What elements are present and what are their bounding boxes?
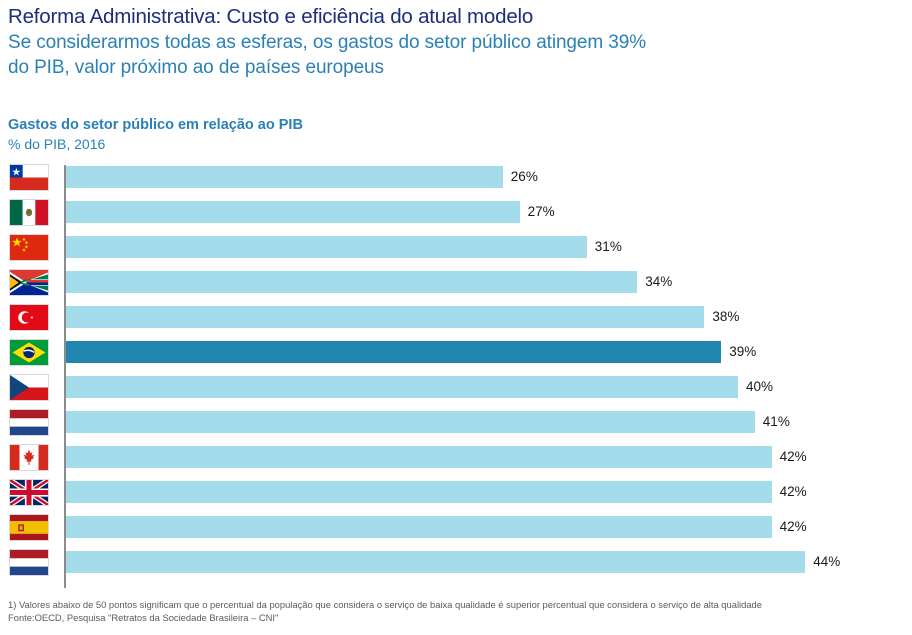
chart-row: 39% xyxy=(0,335,912,370)
netherlands-flag-icon xyxy=(9,549,49,576)
chart-bar xyxy=(66,481,772,503)
chart-bar xyxy=(66,411,755,433)
chart-bar-value-label: 27% xyxy=(528,204,555,219)
chart-bar xyxy=(66,271,637,293)
china-flag-icon xyxy=(9,234,49,261)
chart-bar-value-label: 42% xyxy=(780,484,807,499)
chart-row: 44% xyxy=(0,545,912,580)
chart-bar-value-label: 41% xyxy=(763,414,790,429)
chart-bar-value-label: 31% xyxy=(595,239,622,254)
chart-bar xyxy=(66,236,587,258)
chart-bar xyxy=(66,376,738,398)
chart-row: 42% xyxy=(0,440,912,475)
chart-row: 34% xyxy=(0,265,912,300)
chart-bar-value-label: 26% xyxy=(511,169,538,184)
chart-bar-value-label: 39% xyxy=(729,344,756,359)
chart-bar xyxy=(66,306,704,328)
chart-units: % do PIB, 2016 xyxy=(8,135,303,154)
chart-bar-value-label: 44% xyxy=(813,554,840,569)
united-kingdom-flag-icon xyxy=(9,479,49,506)
turkey-flag-icon xyxy=(9,304,49,331)
chart-header: Gastos do setor público em relação ao PI… xyxy=(8,116,303,154)
chart-bar xyxy=(66,166,503,188)
netherlands-flag-icon xyxy=(9,409,49,436)
chart-bar xyxy=(66,341,721,363)
chart-bar xyxy=(66,551,805,573)
header-block: Reforma Administrativa: Custo e eficiênc… xyxy=(8,4,908,80)
mexico-flag-icon xyxy=(9,199,49,226)
canada-flag-icon xyxy=(9,444,49,471)
chart-bar-value-label: 42% xyxy=(780,519,807,534)
chart-row: 26% xyxy=(0,160,912,195)
bar-chart: 26%27%31%34%38%39%40%41%42%42%42%44% xyxy=(0,160,912,590)
footnote-1: 1) Valores abaixo de 50 pontos significa… xyxy=(8,598,908,611)
chart-bar-value-label: 38% xyxy=(712,309,739,324)
chart-bar xyxy=(66,201,520,223)
chart-bar-value-label: 34% xyxy=(645,274,672,289)
czech-republic-flag-icon xyxy=(9,374,49,401)
chart-bar xyxy=(66,516,772,538)
chart-row: 41% xyxy=(0,405,912,440)
chart-row: 31% xyxy=(0,230,912,265)
chart-row: 40% xyxy=(0,370,912,405)
page-subtitle-line-2: do PIB, valor próximo ao de países europ… xyxy=(8,55,908,80)
chart-row: 38% xyxy=(0,300,912,335)
chart-row: 42% xyxy=(0,510,912,545)
page-subtitle-line-1: Se considerarmos todas as esferas, os ga… xyxy=(8,30,908,55)
footnotes: 1) Valores abaixo de 50 pontos significa… xyxy=(8,598,908,624)
brazil-flag-icon xyxy=(9,339,49,366)
chart-title: Gastos do setor público em relação ao PI… xyxy=(8,116,303,135)
spain-flag-icon xyxy=(9,514,49,541)
chart-row: 27% xyxy=(0,195,912,230)
footnote-source: Fonte:OECD, Pesquisa "Retratos da Socied… xyxy=(8,611,908,624)
south-africa-flag-icon xyxy=(9,269,49,296)
chile-flag-icon xyxy=(9,164,49,191)
chart-row: 42% xyxy=(0,475,912,510)
chart-bar-value-label: 40% xyxy=(746,379,773,394)
chart-rows: 26%27%31%34%38%39%40%41%42%42%42%44% xyxy=(0,160,912,580)
page-title: Reforma Administrativa: Custo e eficiênc… xyxy=(8,4,908,30)
chart-bar xyxy=(66,446,772,468)
chart-bar-value-label: 42% xyxy=(780,449,807,464)
